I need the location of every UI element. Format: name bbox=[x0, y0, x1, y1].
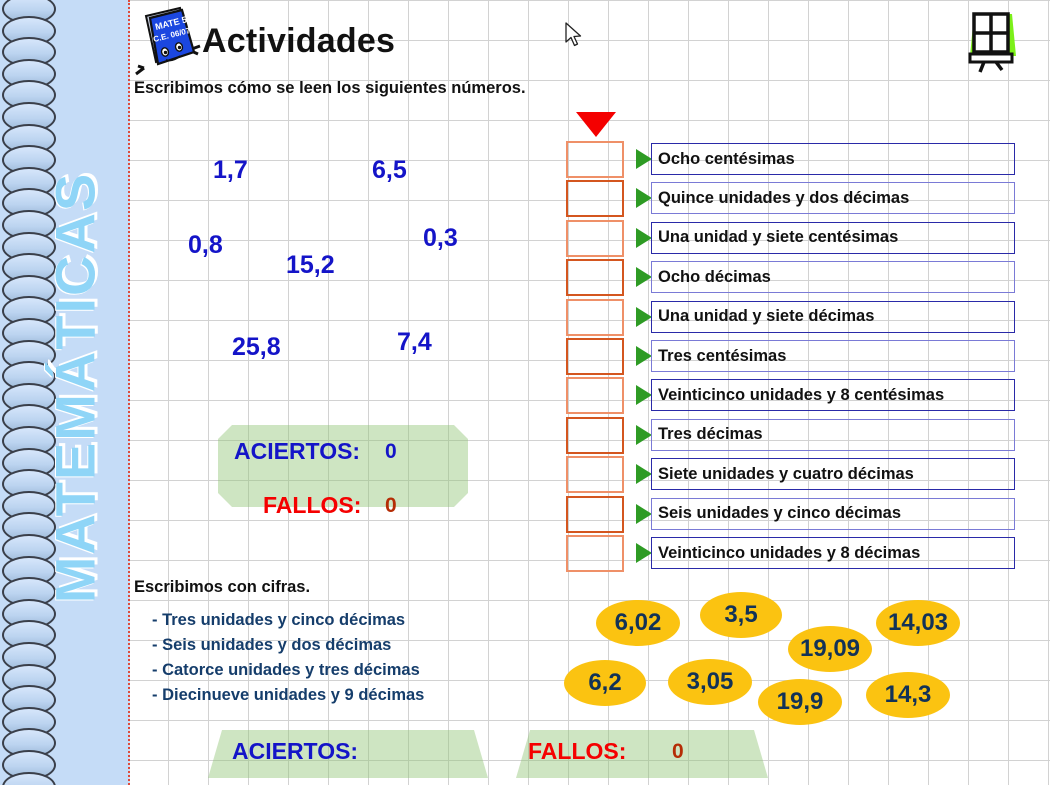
exercise2-instruction: Escribimos con cifras. bbox=[134, 578, 310, 597]
option-box-11[interactable]: Veinticinco unidades y 8 décimas bbox=[651, 537, 1015, 569]
exercise2-fallos-label: FALLOS: bbox=[528, 738, 626, 765]
matching-row: Veinticinco unidades y 8 décimas bbox=[566, 535, 1026, 574]
page-title: Actividades bbox=[202, 22, 395, 61]
answer-input-2[interactable] bbox=[566, 180, 624, 217]
answer-input-5[interactable] bbox=[566, 299, 624, 336]
exercise1-fallos-label: FALLOS: bbox=[263, 492, 361, 519]
option-box-9[interactable]: Siete unidades y cuatro décimas bbox=[651, 458, 1015, 490]
cifra-item-2[interactable]: - Seis unidades y dos décimas bbox=[152, 636, 391, 655]
decimal-number[interactable]: 15,2 bbox=[286, 251, 335, 280]
choice-oval[interactable]: 19,09 bbox=[788, 626, 872, 672]
option-box-6[interactable]: Tres centésimas bbox=[651, 340, 1015, 372]
option-box-3[interactable]: Una unidad y siete centésimas bbox=[651, 222, 1015, 254]
choice-oval[interactable]: 14,3 bbox=[866, 672, 950, 718]
red-pointer-icon bbox=[576, 112, 616, 137]
mouse-cursor bbox=[564, 22, 584, 48]
option-label: Quince unidades y dos décimas bbox=[658, 189, 909, 208]
notebook-sidebar: MATEMÁTICAS bbox=[0, 0, 130, 785]
answer-input-6[interactable] bbox=[566, 338, 624, 375]
option-label: Tres décimas bbox=[658, 425, 763, 444]
answer-input-11[interactable] bbox=[566, 535, 624, 572]
green-arrow-icon bbox=[636, 385, 652, 405]
option-box-8[interactable]: Tres décimas bbox=[651, 419, 1015, 451]
activity-page: MATEMÁTICAS MATE 5º C.E. 06/07 Actividad… bbox=[0, 0, 1050, 785]
option-label: Seis unidades y cinco décimas bbox=[658, 504, 901, 523]
option-label: Ocho décimas bbox=[658, 268, 771, 287]
option-box-10[interactable]: Seis unidades y cinco décimas bbox=[651, 498, 1015, 530]
option-box-5[interactable]: Una unidad y siete décimas bbox=[651, 301, 1015, 333]
cifra-item-3[interactable]: - Catorce unidades y tres décimas bbox=[152, 661, 420, 680]
matching-row: Ocho décimas bbox=[566, 259, 1026, 298]
choice-oval[interactable]: 19,9 bbox=[758, 679, 842, 725]
matching-row: Ocho centésimas bbox=[566, 141, 1026, 180]
decimal-number[interactable]: 0,3 bbox=[423, 224, 458, 253]
option-label: Veinticinco unidades y 8 centésimas bbox=[658, 386, 944, 405]
choice-oval[interactable]: 3,5 bbox=[700, 592, 782, 638]
decimal-number[interactable]: 0,8 bbox=[188, 231, 223, 260]
answer-input-8[interactable] bbox=[566, 417, 624, 454]
book-mascot-icon: MATE 5º C.E. 06/07 bbox=[134, 6, 204, 82]
exercise1-aciertos-label: ACIERTOS: bbox=[234, 438, 360, 465]
green-arrow-icon bbox=[636, 543, 652, 563]
answer-input-10[interactable] bbox=[566, 496, 624, 533]
green-arrow-icon bbox=[636, 228, 652, 248]
answer-input-4[interactable] bbox=[566, 259, 624, 296]
green-arrow-icon bbox=[636, 149, 652, 169]
option-label: Siete unidades y cuatro décimas bbox=[658, 465, 914, 484]
matching-row: Tres centésimas bbox=[566, 338, 1026, 377]
matching-row: Tres décimas bbox=[566, 417, 1026, 456]
option-label: Ocho centésimas bbox=[658, 150, 795, 169]
exercise1-aciertos-value: 0 bbox=[385, 440, 397, 464]
green-arrow-icon bbox=[636, 425, 652, 445]
exercise2-fallos-value: 0 bbox=[672, 740, 684, 764]
exercise1-instruction: Escribimos cómo se leen los siguientes n… bbox=[134, 79, 526, 98]
green-arrow-icon bbox=[636, 267, 652, 287]
choice-oval[interactable]: 6,02 bbox=[596, 600, 680, 646]
answer-input-3[interactable] bbox=[566, 220, 624, 257]
option-box-4[interactable]: Ocho décimas bbox=[651, 261, 1015, 293]
green-arrow-icon bbox=[636, 307, 652, 327]
decimal-number[interactable]: 7,4 bbox=[397, 328, 432, 357]
green-arrow-icon bbox=[636, 346, 652, 366]
decimal-number[interactable]: 6,5 bbox=[372, 156, 407, 185]
exit-window-icon[interactable] bbox=[962, 8, 1024, 74]
green-arrow-icon bbox=[636, 464, 652, 484]
option-box-2[interactable]: Quince unidades y dos décimas bbox=[651, 182, 1015, 214]
matching-row: Siete unidades y cuatro décimas bbox=[566, 456, 1026, 495]
exercise1-fallos-value: 0 bbox=[385, 494, 397, 518]
choice-oval[interactable]: 3,05 bbox=[668, 659, 752, 705]
answer-input-9[interactable] bbox=[566, 456, 624, 493]
choice-oval[interactable]: 6,2 bbox=[564, 660, 646, 706]
matching-row: Seis unidades y cinco décimas bbox=[566, 496, 1026, 535]
cifra-item-1[interactable]: - Tres unidades y cinco décimas bbox=[152, 611, 405, 630]
subject-title: MATEMÁTICAS bbox=[43, 68, 108, 708]
exercise2-aciertos-label: ACIERTOS: bbox=[232, 738, 358, 765]
matching-row: Una unidad y siete centésimas bbox=[566, 220, 1026, 259]
cifra-item-4[interactable]: - Diecinueve unidades y 9 décimas bbox=[152, 686, 424, 705]
green-arrow-icon bbox=[636, 188, 652, 208]
option-label: Una unidad y siete centésimas bbox=[658, 228, 898, 247]
margin-line bbox=[128, 0, 130, 785]
option-box-1[interactable]: Ocho centésimas bbox=[651, 143, 1015, 175]
choice-oval[interactable]: 14,03 bbox=[876, 600, 960, 646]
option-label: Veinticinco unidades y 8 décimas bbox=[658, 544, 920, 563]
option-box-7[interactable]: Veinticinco unidades y 8 centésimas bbox=[651, 379, 1015, 411]
matching-row: Quince unidades y dos décimas bbox=[566, 180, 1026, 219]
option-label: Tres centésimas bbox=[658, 347, 786, 366]
answer-input-7[interactable] bbox=[566, 377, 624, 414]
matching-row: Veinticinco unidades y 8 centésimas bbox=[566, 377, 1026, 416]
green-arrow-icon bbox=[636, 504, 652, 524]
option-label: Una unidad y siete décimas bbox=[658, 307, 874, 326]
answer-input-1[interactable] bbox=[566, 141, 624, 178]
decimal-number[interactable]: 1,7 bbox=[213, 156, 248, 185]
decimal-number[interactable]: 25,8 bbox=[232, 333, 281, 362]
matching-row: Una unidad y siete décimas bbox=[566, 299, 1026, 338]
